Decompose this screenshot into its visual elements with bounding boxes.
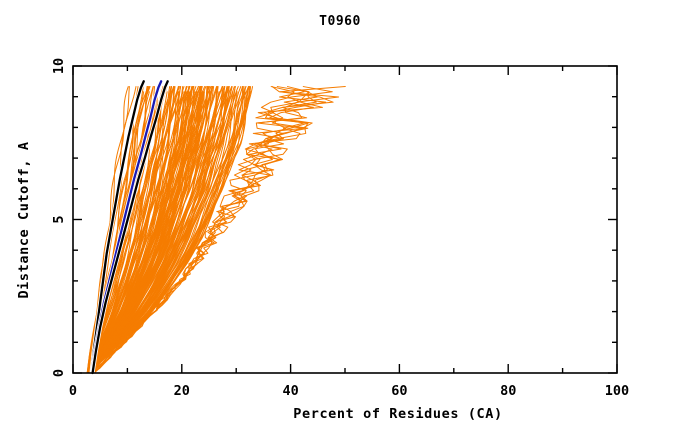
y-axis-title: Distance Cutoff, A — [16, 141, 32, 298]
y-tick-label: 5 — [51, 215, 67, 223]
x-tick-label: 100 — [605, 383, 629, 399]
x-tick-label: 40 — [282, 383, 298, 399]
y-tick-label: 0 — [51, 369, 67, 377]
plot-canvas: 0204060801000510 Percent of Residues (CA… — [0, 0, 680, 440]
x-tick-label: 20 — [174, 383, 190, 399]
x-tick-label: 60 — [391, 383, 407, 399]
plot-root: T0960 0204060801000510 Percent of Residu… — [0, 0, 680, 440]
y-tick-label: 10 — [51, 58, 67, 74]
x-tick-label: 80 — [500, 383, 516, 399]
x-axis-title: Percent of Residues (CA) — [293, 406, 502, 422]
x-tick-label: 0 — [69, 383, 77, 399]
